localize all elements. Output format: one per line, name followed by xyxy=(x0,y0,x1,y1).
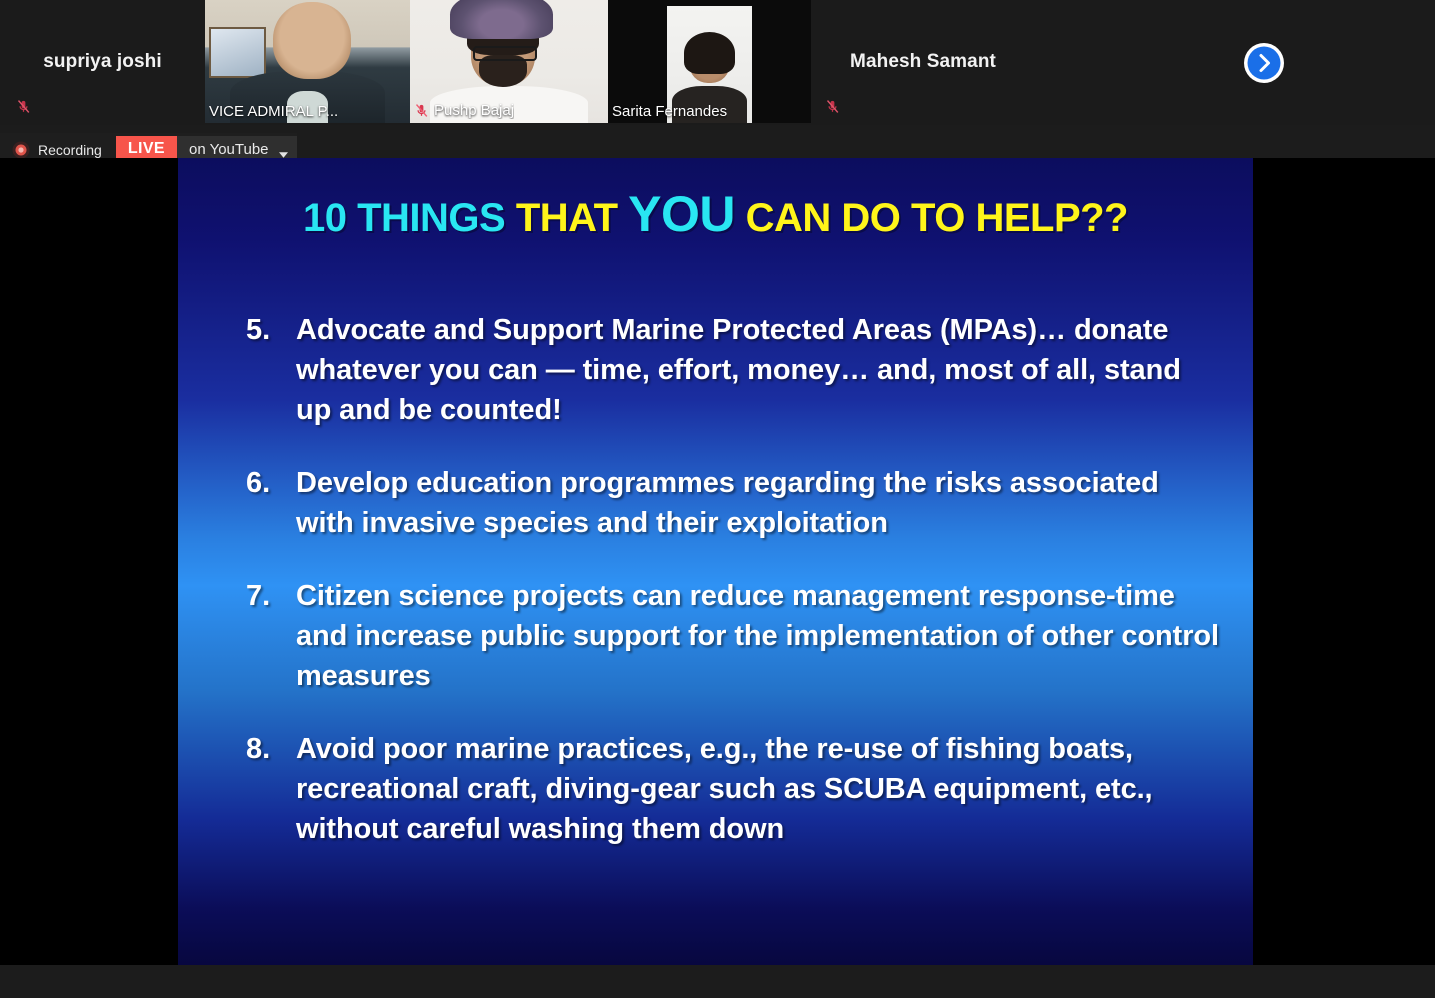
participant-name-vice-admiral: VICE ADMIRAL P... xyxy=(209,103,338,120)
participant-name-mahesh-samant: Mahesh Samant xyxy=(811,51,1035,73)
slide-bullet-text: Develop education programmes regarding t… xyxy=(296,463,1221,543)
participant-name-supriya-joshi: supriya joshi xyxy=(0,51,205,73)
slide-bullet-item: 7. Citizen science projects can reduce m… xyxy=(246,576,1221,696)
participant-filmstrip: supriya joshi VICE ADMIRAL P... xyxy=(0,0,1435,125)
slide-bullet-number: 8. xyxy=(246,729,296,769)
slide-bullet-text: Advocate and Support Marine Protected Ar… xyxy=(296,310,1221,430)
participant-footer-sarita-fernandes: Sarita Fernandes xyxy=(608,101,733,123)
slide-bullet-list: 5. Advocate and Support Marine Protected… xyxy=(246,310,1221,882)
live-platform-label: on YouTube xyxy=(189,142,269,157)
slide-bullet-item: 6. Develop education programmes regardin… xyxy=(246,463,1221,543)
slide-title-part-2: THAT xyxy=(516,196,628,240)
stage-letterbox-right xyxy=(1253,158,1435,965)
slide-bullet-number: 5. xyxy=(246,310,296,350)
participant-tile-pushp-bajaj[interactable]: Pushp Bajaj xyxy=(410,0,608,123)
participant-tile-mahesh-samant[interactable]: Mahesh Samant xyxy=(811,0,1035,123)
slide-title: 10 THINGS THAT YOU CAN DO TO HELP?? xyxy=(178,189,1253,239)
slide-bullet-number: 6. xyxy=(246,463,296,503)
recording-label: Recording xyxy=(38,142,102,158)
stage-letterbox-left xyxy=(0,158,178,965)
slide-title-part-1: 10 THINGS xyxy=(303,196,516,240)
microphone-muted-icon xyxy=(414,101,429,120)
slide-title-part-3: YOU xyxy=(628,186,735,242)
stage-letterbox-bottom xyxy=(0,965,1435,998)
microphone-muted-icon xyxy=(16,97,34,119)
participant-name-sarita-fernandes: Sarita Fernandes xyxy=(612,103,727,120)
slide-bullet-number: 7. xyxy=(246,576,296,616)
participant-tile-supriya-joshi[interactable]: supriya joshi xyxy=(0,0,205,123)
slide-bullet-item: 5. Advocate and Support Marine Protected… xyxy=(246,310,1221,430)
shared-screen-slide: 10 THINGS THAT YOU CAN DO TO HELP?? 5. A… xyxy=(178,158,1253,965)
chevron-down-icon xyxy=(279,146,288,152)
slide-bullet-text: Citizen science projects can reduce mana… xyxy=(296,576,1221,696)
participant-tile-sarita-fernandes[interactable]: Sarita Fernandes xyxy=(608,0,811,123)
participant-footer-vice-admiral: VICE ADMIRAL P... xyxy=(205,101,344,123)
participant-tile-vice-admiral[interactable]: VICE ADMIRAL P... xyxy=(205,0,410,123)
participant-name-pushp-bajaj: Pushp Bajaj xyxy=(434,102,514,119)
zoom-meeting-window: supriya joshi VICE ADMIRAL P... xyxy=(0,0,1435,998)
filmstrip-next-page-button[interactable] xyxy=(1243,42,1285,84)
participant-footer-pushp-bajaj: Pushp Bajaj xyxy=(410,99,520,123)
slide-bullet-item: 8. Avoid poor marine practices, e.g., th… xyxy=(246,729,1221,849)
recording-dot-icon xyxy=(12,141,30,159)
microphone-muted-icon xyxy=(825,97,843,119)
slide-title-part-4: CAN DO TO HELP?? xyxy=(735,196,1128,240)
slide-bullet-text: Avoid poor marine practices, e.g., the r… xyxy=(296,729,1221,849)
